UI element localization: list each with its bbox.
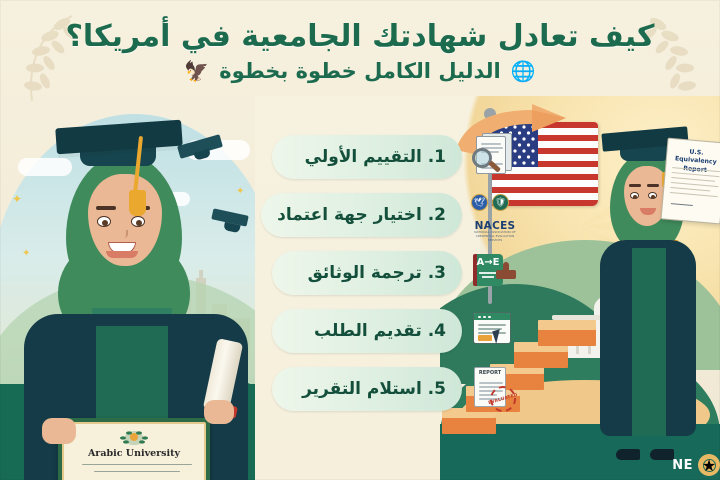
step-label-4: 4. تقديم الطلب <box>314 321 446 341</box>
step-label-3: 3. ترجمة الوثائق <box>308 263 446 283</box>
document-magnifier-icon <box>468 132 522 182</box>
certificate-university-name: Arabic University <box>64 448 204 459</box>
naces-tagline: NATIONAL ASSOCIATION OF CREDENTIAL EVALU… <box>470 230 520 242</box>
step-item-2[interactable]: 🕊 🛡 NACES NATIONAL ASSOCIATION OF CREDEN… <box>272 186 522 244</box>
equivalency-report-document: U.S. Equivalency Report <box>661 138 720 225</box>
online-application-cursor-icon <box>468 306 522 356</box>
watermark-badge-icon: ★ <box>698 454 720 476</box>
certificate: Arabic University <box>58 418 210 480</box>
eagle-icon: 🦅 <box>184 61 209 81</box>
report-stamp-icon: REPORT EVALUATED <box>468 364 522 414</box>
certificate-wreath-icon <box>115 429 153 447</box>
header: كيف تعادل شهادتك الجامعية في أمريكا؟ 🌐 ا… <box>0 0 720 118</box>
step-pill-4[interactable]: 4. تقديم الطلب <box>272 309 462 353</box>
book-label: A→E <box>473 257 503 268</box>
step-label-1: 1. التقييم الأولي <box>305 147 446 167</box>
step-pill-2[interactable]: 2. اختيار جهة اعتماد <box>261 193 462 237</box>
step-pill-5[interactable]: 5. استلام التقرير <box>272 367 462 411</box>
page-subtitle: الدليل الكامل خطوة بخطوة <box>219 60 500 83</box>
step-item-5[interactable]: REPORT EVALUATED 5. استلام التقرير <box>272 360 522 418</box>
globe-icon: 🌐 <box>511 61 536 81</box>
step-label-2: 2. اختيار جهة اعتماد <box>277 205 446 225</box>
step-label-5: 5. استلام التقرير <box>302 379 446 399</box>
step-pill-3[interactable]: 3. ترجمة الوثائق <box>272 251 462 295</box>
stamp-text: EVALUATED <box>488 392 518 405</box>
step-item-1[interactable]: 1. التقييم الأولي <box>272 128 522 186</box>
report-heading: REPORT <box>474 370 506 376</box>
step-pill-1[interactable]: 1. التقييم الأولي <box>272 135 462 179</box>
graduation-cap-icon <box>55 120 183 155</box>
right-graduate-figure: U.S. Equivalency Report <box>588 122 712 452</box>
page-title: كيف تعادل شهادتك الجامعية في أمريكا؟ <box>0 0 720 54</box>
left-graduate-figure: Arabic University <box>18 118 254 480</box>
watermark-text: NE <box>672 458 693 473</box>
naces-logo-icon: 🕊 🛡 NACES NATIONAL ASSOCIATION OF CREDEN… <box>468 190 522 240</box>
watermark: ★ NE <box>672 454 720 476</box>
step-item-3[interactable]: A→E 3. ترجمة الوثائق <box>272 244 522 302</box>
translation-book-stamp-icon: A→E <box>468 248 522 298</box>
steps-list: 1. التقييم الأولي 🕊 🛡 NACES NATIONAL ASS… <box>272 128 522 418</box>
report-line-1: U.S. Equivalency <box>675 149 717 167</box>
step-item-4[interactable]: 4. تقديم الطلب <box>272 302 522 360</box>
infographic-canvas: ✦ ✦ ✦ <box>0 0 720 480</box>
